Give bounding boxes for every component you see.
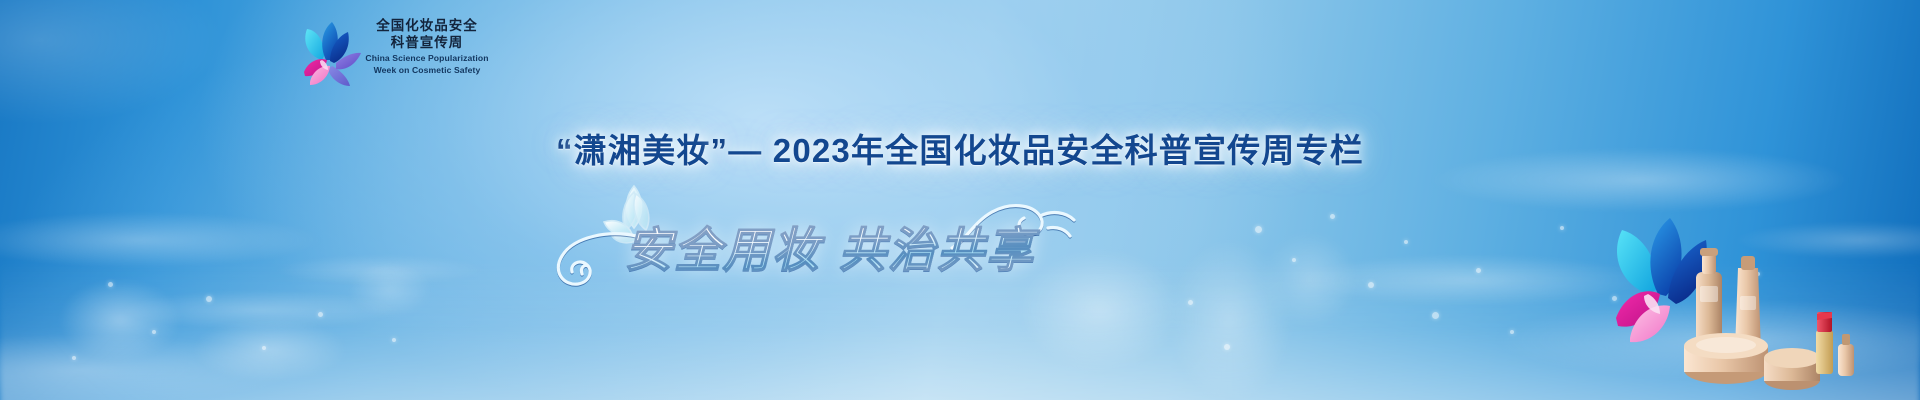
slogan-part1: 安全用妆 bbox=[625, 211, 821, 280]
logo-en-line1: China Science Popularization bbox=[362, 53, 492, 65]
headline-quote-close: ” bbox=[711, 132, 729, 169]
slogan-block: 安全用妆 共治共享 bbox=[540, 186, 1100, 296]
slogan-part2: 共治共享 bbox=[839, 211, 1035, 280]
headline-dash: — bbox=[728, 132, 762, 169]
slogan-text: 安全用妆 共治共享 bbox=[610, 210, 1050, 280]
campaign-logo-text: 全国化妆品安全 科普宣传周 China Science Popularizati… bbox=[362, 17, 492, 76]
headline-topic: 潇湘美妆 bbox=[574, 132, 711, 169]
headline-quote-open: “ bbox=[556, 132, 574, 169]
banner-headline: “潇湘美妆”— 2023年全国化妆品安全科普宣传周专栏 bbox=[0, 124, 1920, 172]
cosmetic-safety-week-banner: 全国化妆品安全 科普宣传周 China Science Popularizati… bbox=[0, 0, 1920, 400]
butterfly-lotus-logo-icon bbox=[288, 16, 364, 88]
water-splash-left bbox=[40, 230, 460, 400]
logo-en-line2: Week on Cosmetic Safety bbox=[362, 65, 492, 77]
logo-cn-line1: 全国化妆品安全 bbox=[362, 17, 492, 34]
headline-rest: 2023年全国化妆品安全科普宣传周专栏 bbox=[762, 132, 1364, 169]
cosmetic-products-cluster-icon bbox=[1660, 234, 1860, 400]
right-decoration bbox=[1500, 200, 1920, 400]
logo-cn-line2: 科普宣传周 bbox=[362, 34, 492, 51]
campaign-logo: 全国化妆品安全 科普宣传周 China Science Popularizati… bbox=[288, 16, 488, 90]
banner-accessible-title: “潇湘美妆”— 2023年全国化妆品安全科普宣传周专栏 bbox=[0, 0, 1, 1]
